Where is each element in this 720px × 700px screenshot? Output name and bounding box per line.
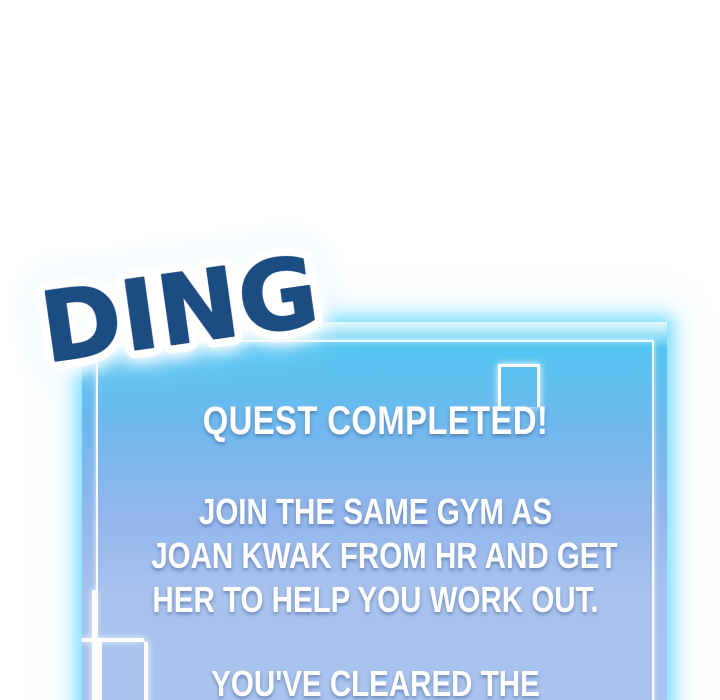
quest-objective: JOIN THE SAME GYM AS JOAN KWAK FROM HR A… bbox=[151, 490, 600, 622]
quest-objective-line: JOIN THE SAME GYM AS bbox=[151, 490, 600, 534]
quest-objective-line: HER TO HELP YOU WORK OUT. bbox=[151, 578, 600, 622]
quest-reward-line: YOU'VE CLEARED THE bbox=[151, 662, 600, 700]
comic-panel-stage: QUEST COMPLETED! JOIN THE SAME GYM AS JO… bbox=[0, 0, 720, 700]
quest-reward: YOU'VE CLEARED THE bbox=[151, 662, 600, 700]
quest-objective-line: JOAN KWAK FROM HR AND GET bbox=[151, 534, 600, 578]
quest-panel-text: QUEST COMPLETED! JOIN THE SAME GYM AS JO… bbox=[102, 340, 649, 700]
quest-title: QUEST COMPLETED! bbox=[151, 398, 600, 444]
quest-notification-panel: QUEST COMPLETED! JOIN THE SAME GYM AS JO… bbox=[82, 322, 667, 700]
